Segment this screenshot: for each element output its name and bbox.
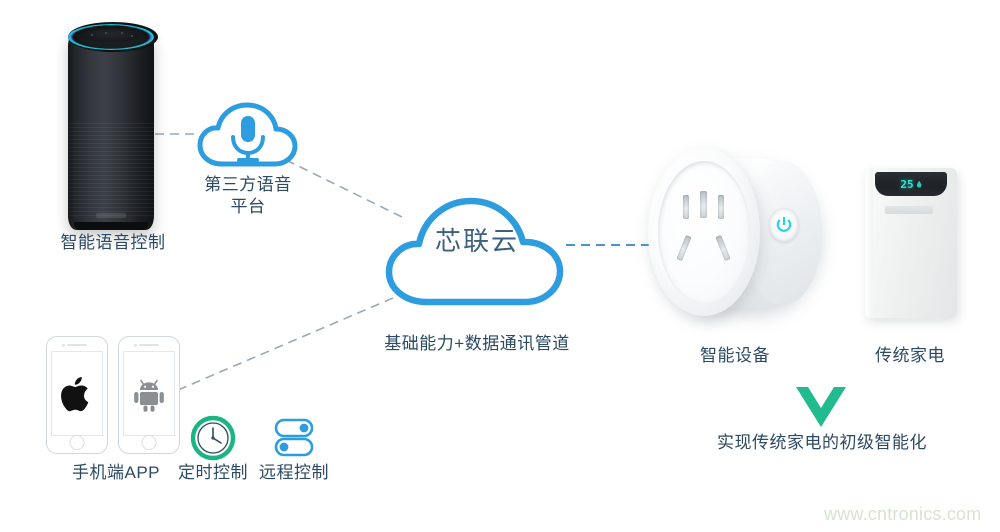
watermark: www.cntronics.com: [824, 503, 981, 525]
voice-cloud-label: 第三方语音 平台: [178, 174, 318, 218]
apple-logo-icon: [60, 375, 94, 413]
voice-cloud-label-line1: 第三方语音: [204, 175, 292, 194]
voice-cloud-label-line2: 平台: [231, 197, 266, 216]
power-button[interactable]: [769, 208, 799, 242]
water-heater-icon: 25: [865, 168, 957, 318]
clock-icon: [190, 415, 236, 461]
smart-socket-label: 智能设备: [660, 345, 810, 367]
phone-android: [118, 336, 180, 454]
smart-socket-icon: [648, 148, 828, 318]
mobile-app-label: 手机端APP: [36, 462, 196, 484]
chevron-down-icon: [793, 385, 849, 429]
cloud-microphone-icon: [196, 98, 300, 172]
power-icon: [775, 216, 793, 234]
toggle-switch-icon: [270, 417, 318, 459]
outcome-label: 实现传统家电的初级智能化: [700, 432, 944, 454]
remote-label: 远程控制: [254, 462, 334, 484]
android-robot-icon: [132, 376, 166, 412]
smart-speaker-label: 智能语音控制: [28, 232, 198, 254]
appliance-label: 传统家电: [840, 345, 980, 367]
smart-speaker-icon: [68, 22, 154, 230]
mobile-app-icon: [46, 336, 186, 454]
central-cloud-label: 基础能力+数据通讯管道: [358, 333, 596, 355]
phone-ios: [46, 336, 108, 454]
timer-label: 定时控制: [173, 462, 253, 484]
diagram-canvas: 智能语音控制 第三方语音 平台 芯联云 基础能力+数据通讯管道: [0, 0, 1000, 532]
cloud-title: 芯联云: [383, 230, 571, 252]
heater-display: 25: [875, 172, 947, 196]
cloud-icon: 芯联云: [383, 192, 571, 310]
water-drop-icon: [917, 181, 922, 188]
heater-temp-value: 25: [900, 178, 913, 191]
